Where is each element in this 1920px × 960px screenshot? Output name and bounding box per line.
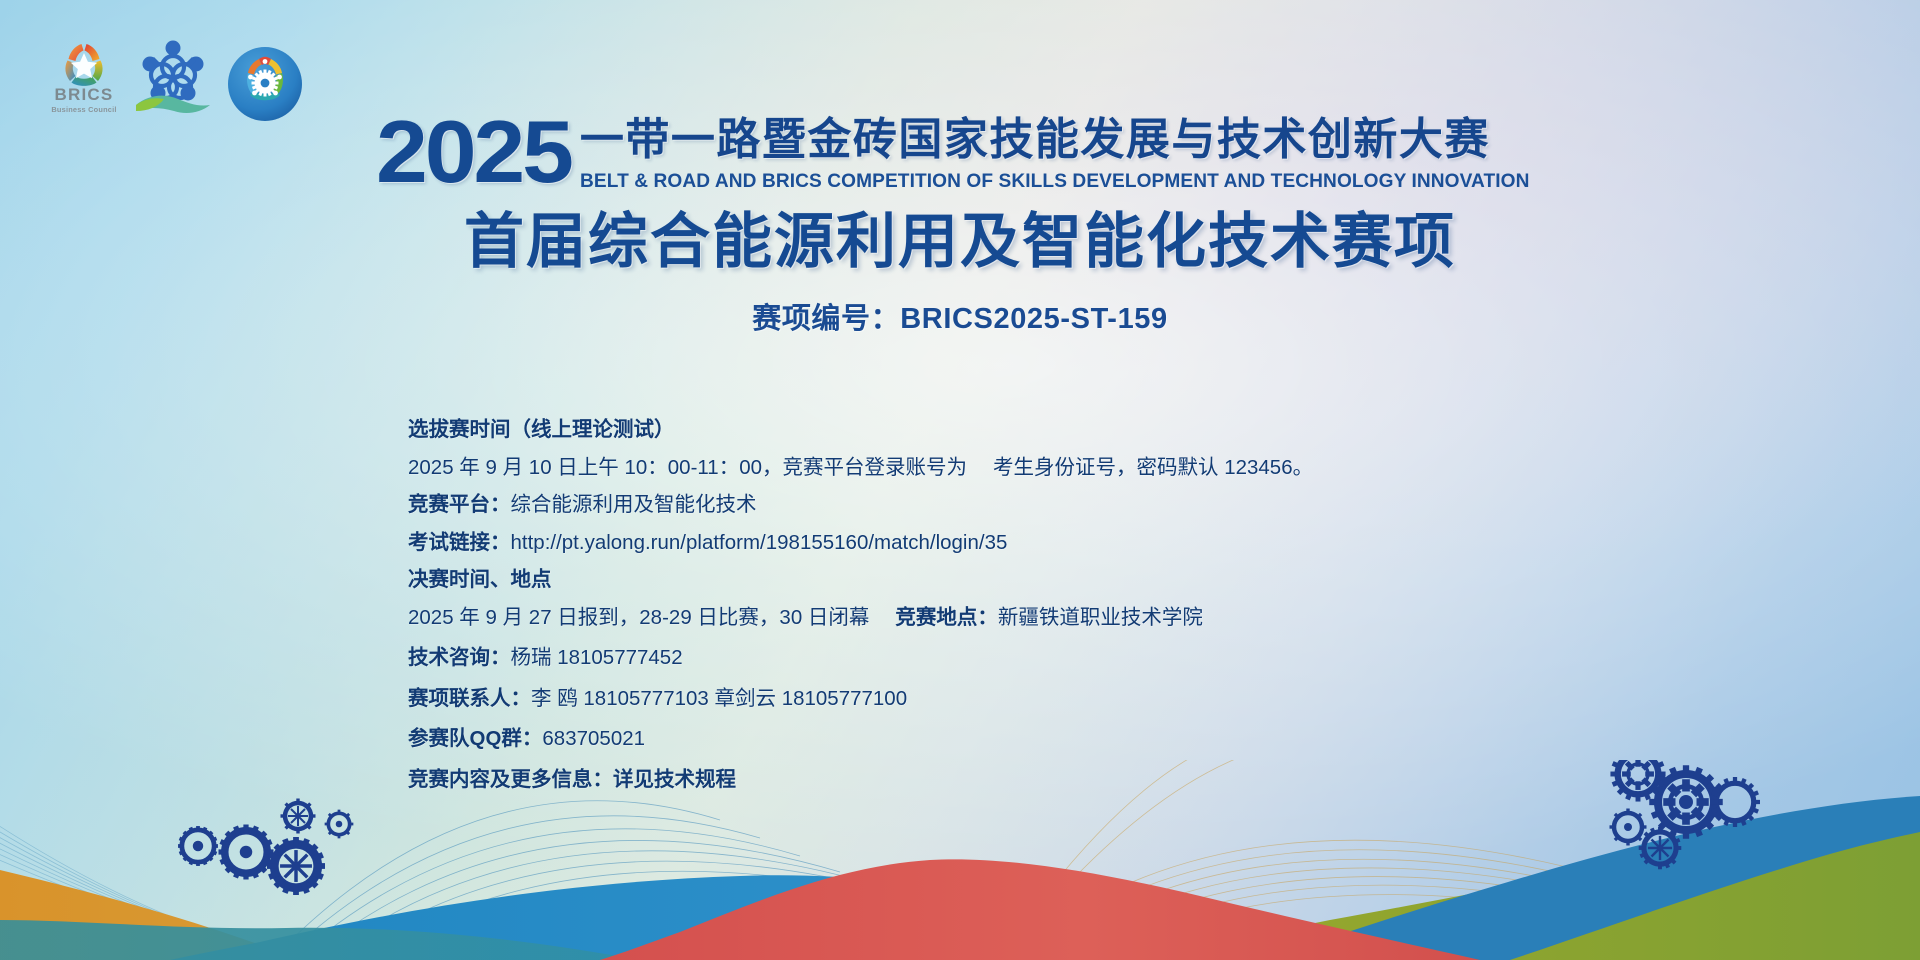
final-heading-text: 决赛时间、地点 bbox=[408, 568, 552, 591]
contacts-label: 赛项联系人： bbox=[408, 687, 531, 710]
venue-value: 新疆铁道职业技术学院 bbox=[998, 606, 1203, 629]
gear-icon-l1 bbox=[178, 826, 218, 866]
exam-link-value[interactable]: http://pt.yalong.run/platform/198155160/… bbox=[511, 531, 1008, 554]
tech-support-label: 技术咨询： bbox=[408, 646, 511, 669]
title-block: 2025 一带一路暨金砖国家技能发展与技术创新大赛 BELT & ROAD AN… bbox=[0, 112, 1920, 337]
gear-icon-l5 bbox=[325, 810, 354, 839]
poster-canvas: BRICS Business Council bbox=[0, 0, 1920, 960]
headline-row: 2025 一带一路暨金砖国家技能发展与技术创新大赛 BELT & ROAD AN… bbox=[0, 112, 1920, 193]
year-label: 2025 bbox=[376, 112, 571, 193]
gear-icon-l4 bbox=[281, 799, 316, 834]
gear-icon-r4 bbox=[1610, 809, 1647, 846]
event-code-label: 赛项编号： bbox=[752, 303, 900, 335]
detail-tech-support: 技术咨询：杨瑞 18105777452 bbox=[408, 648, 1728, 669]
platform-value: 综合能源利用及智能化技术 bbox=[511, 493, 757, 516]
detail-qq-group: 参赛队QQ群：683705021 bbox=[408, 729, 1728, 750]
gear-icon-l3 bbox=[267, 837, 325, 895]
detail-final-heading: 决赛时间、地点 bbox=[408, 570, 1728, 591]
event-title-cn: 首届综合能源利用及智能化技术赛项 bbox=[0, 209, 1920, 275]
detail-exam-link: 考试链接：http://pt.yalong.run/platform/19815… bbox=[408, 533, 1728, 554]
detail-selection-body: 2025 年 9 月 10 日上午 10：00-11：00，竞赛平台登录账号为考… bbox=[408, 458, 1728, 479]
detail-platform: 竞赛平台：综合能源利用及智能化技术 bbox=[408, 495, 1728, 516]
venue-label: 竞赛地点： bbox=[895, 606, 998, 629]
contacts-value: 李 鸥 18105777103 章剑云 18105777100 bbox=[531, 687, 907, 710]
competition-title-en: BELT & ROAD AND BRICS COMPETITION OF SKI… bbox=[580, 170, 1530, 193]
detail-selection-heading: 选拔赛时间（线上理论测试） bbox=[408, 420, 1728, 441]
brics-star-icon bbox=[48, 40, 120, 90]
detail-final-body: 2025 年 9 月 27 日报到，28-29 日比赛，30 日闭幕竞赛地点：新… bbox=[408, 608, 1728, 629]
gear-cluster-left bbox=[178, 799, 353, 896]
final-body-text: 2025 年 9 月 27 日报到，28-29 日比赛，30 日闭幕 bbox=[408, 606, 869, 629]
gear-icon-l2 bbox=[219, 825, 274, 880]
qq-value: 683705021 bbox=[542, 727, 645, 750]
skills-network-icon bbox=[130, 37, 216, 123]
tech-support-value: 杨瑞 18105777452 bbox=[511, 646, 683, 669]
event-code: 赛项编号：BRICS2025-ST-159 bbox=[0, 295, 1920, 337]
brics-wordmark: BRICS bbox=[48, 86, 120, 103]
details-block: 选拔赛时间（线上理论测试） 2025 年 9 月 10 日上午 10：00-11… bbox=[408, 420, 1728, 810]
detail-contacts: 赛项联系人：李 鸥 18105777103 章剑云 18105777100 bbox=[408, 689, 1728, 710]
headline-text: 一带一路暨金砖国家技能发展与技术创新大赛 BELT & ROAD AND BRI… bbox=[580, 112, 1544, 193]
more-info-value: 详见技术规程 bbox=[613, 768, 736, 791]
event-code-value: BRICS2025-ST-159 bbox=[900, 303, 1168, 335]
selection-body-text: 2025 年 9 月 10 日上午 10：00-11：00，竞赛平台登录账号为 bbox=[408, 456, 967, 479]
selection-body-text-2: 考生身份证号，密码默认 123456。 bbox=[993, 456, 1313, 479]
competition-title-cn: 一带一路暨金砖国家技能发展与技术创新大赛 bbox=[580, 116, 1544, 164]
exam-link-label: 考试链接： bbox=[408, 531, 511, 554]
detail-more-info: 竞赛内容及更多信息：详见技术规程 bbox=[408, 770, 1728, 791]
gear-icon-r5 bbox=[1639, 827, 1682, 870]
selection-heading-text: 选拔赛时间（线上理论测试） bbox=[408, 418, 675, 441]
qq-label: 参赛队QQ群： bbox=[408, 727, 542, 750]
platform-label: 竞赛平台： bbox=[408, 493, 511, 516]
more-info-label: 竞赛内容及更多信息： bbox=[408, 768, 613, 791]
